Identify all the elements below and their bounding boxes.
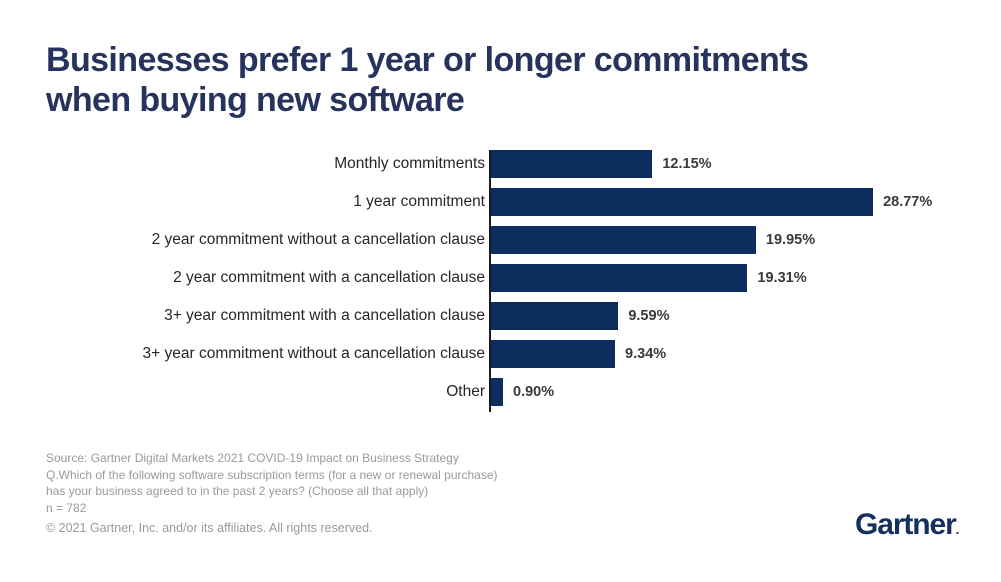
- chart-row: Other0.90%: [0, 378, 1001, 406]
- bar-value-label: 9.59%: [628, 302, 669, 330]
- gartner-logo-text: Gartner: [855, 508, 956, 541]
- page-title: Businesses prefer 1 year or longer commi…: [46, 40, 926, 120]
- chart-row: 2 year commitment with a cancellation cl…: [0, 264, 1001, 292]
- bar: [491, 302, 618, 330]
- bar: [491, 378, 503, 406]
- bar: [491, 264, 747, 292]
- category-label: 3+ year commitment without a cancellatio…: [143, 340, 485, 368]
- category-label: Monthly commitments: [334, 150, 485, 178]
- category-label: 2 year commitment with a cancellation cl…: [173, 264, 485, 292]
- chart-row: 3+ year commitment with a cancellation c…: [0, 302, 1001, 330]
- gartner-logo: Gartner.: [855, 508, 959, 542]
- category-label: 1 year commitment: [353, 188, 485, 216]
- bar-value-label: 19.95%: [766, 226, 815, 254]
- bar: [491, 226, 756, 254]
- category-label: Other: [446, 378, 485, 406]
- source-note: Source: Gartner Digital Markets 2021 COV…: [46, 450, 498, 516]
- bar-chart: Monthly commitments12.15%1 year commitme…: [0, 150, 1001, 412]
- category-label: 3+ year commitment with a cancellation c…: [164, 302, 485, 330]
- chart-row: 2 year commitment without a cancellation…: [0, 226, 1001, 254]
- bar-value-label: 12.15%: [662, 150, 711, 178]
- registered-mark-icon: .: [956, 522, 960, 537]
- bar: [491, 340, 615, 368]
- chart-row: 1 year commitment28.77%: [0, 188, 1001, 216]
- bar: [491, 188, 873, 216]
- bar: [491, 150, 652, 178]
- category-label: 2 year commitment without a cancellation…: [152, 226, 485, 254]
- chart-row: 3+ year commitment without a cancellatio…: [0, 340, 1001, 368]
- bar-value-label: 28.77%: [883, 188, 932, 216]
- bar-value-label: 0.90%: [513, 378, 554, 406]
- bar-value-label: 19.31%: [757, 264, 806, 292]
- chart-row: Monthly commitments12.15%: [0, 150, 1001, 178]
- copyright-note: © 2021 Gartner, Inc. and/or its affiliat…: [46, 521, 373, 535]
- bar-value-label: 9.34%: [625, 340, 666, 368]
